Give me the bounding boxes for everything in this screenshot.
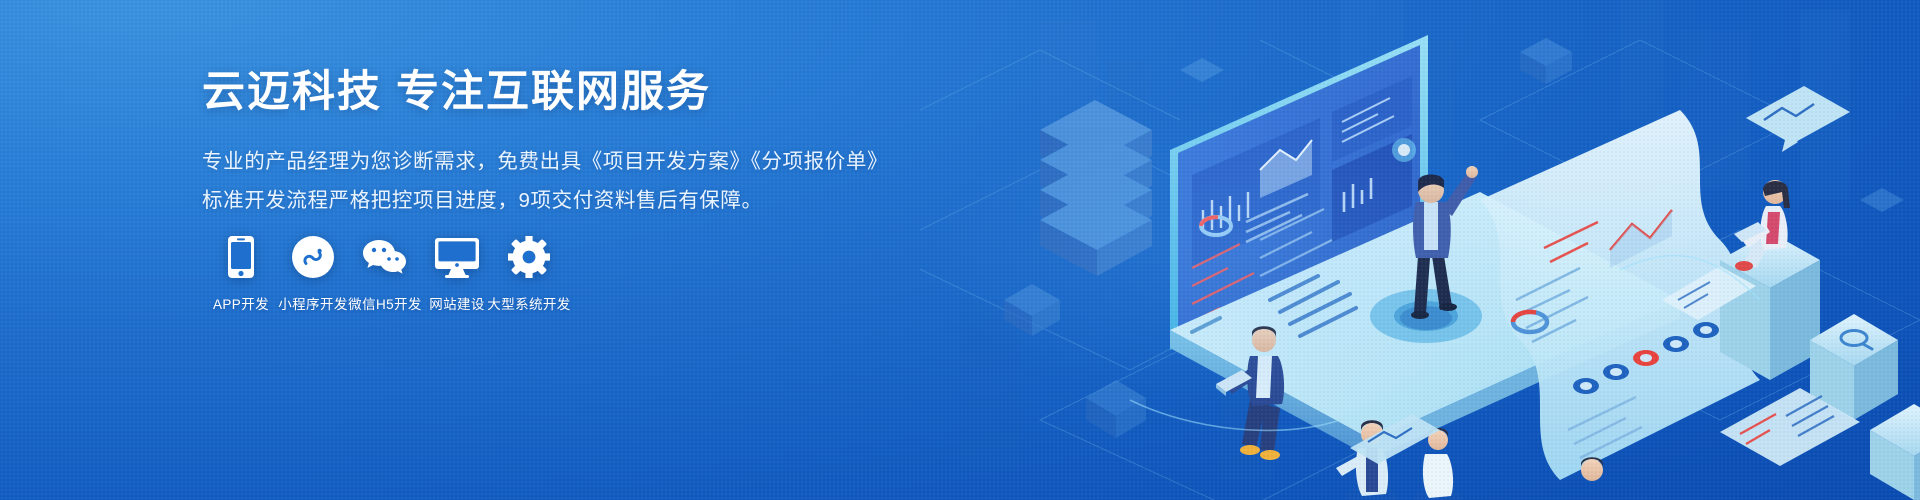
service-label-mini-program: 小程序开发	[278, 293, 348, 313]
isometric-tech-illustration	[920, 0, 1920, 500]
service-label-wechat-h5: 微信H5开发	[348, 293, 422, 313]
lower-block	[1870, 404, 1920, 500]
banner-copy: 云迈科技 专注互联网服务 专业的产品经理为您诊断需求，免费出具《项目开发方案》《…	[202, 68, 962, 220]
service-item-wechat-h5[interactable]: 微信H5开发	[349, 232, 421, 313]
service-item-website[interactable]: 网站建设	[421, 232, 493, 313]
mobile-phone-icon	[228, 232, 254, 278]
service-label-website: 网站建设	[429, 293, 485, 313]
server-blocks	[1040, 100, 1152, 276]
service-item-large-system[interactable]: 大型系统开发	[493, 232, 565, 313]
service-label-large-system: 大型系统开发	[487, 293, 570, 313]
page-title: 云迈科技 专注互联网服务	[202, 68, 962, 117]
service-icon-row: APP开发 小程序开发	[205, 232, 565, 313]
wechat-icon	[362, 232, 408, 278]
subtitle-line-2: 标准开发流程严格把控项目进度，9项交付资料售后有保障。	[202, 182, 962, 220]
service-item-mini-program[interactable]: 小程序开发	[277, 232, 349, 313]
service-item-app[interactable]: APP开发	[205, 232, 277, 313]
service-label-app: APP开发	[213, 293, 269, 313]
hero-banner: 云迈科技 专注互联网服务 专业的产品经理为您诊断需求，免费出具《项目开发方案》《…	[0, 0, 1920, 500]
subtitle-line-1: 专业的产品经理为您诊断需求，免费出具《项目开发方案》《分项报价单》	[202, 143, 962, 181]
mini-program-icon	[292, 232, 334, 278]
monitor-icon	[435, 232, 479, 278]
gear-icon	[508, 232, 550, 278]
